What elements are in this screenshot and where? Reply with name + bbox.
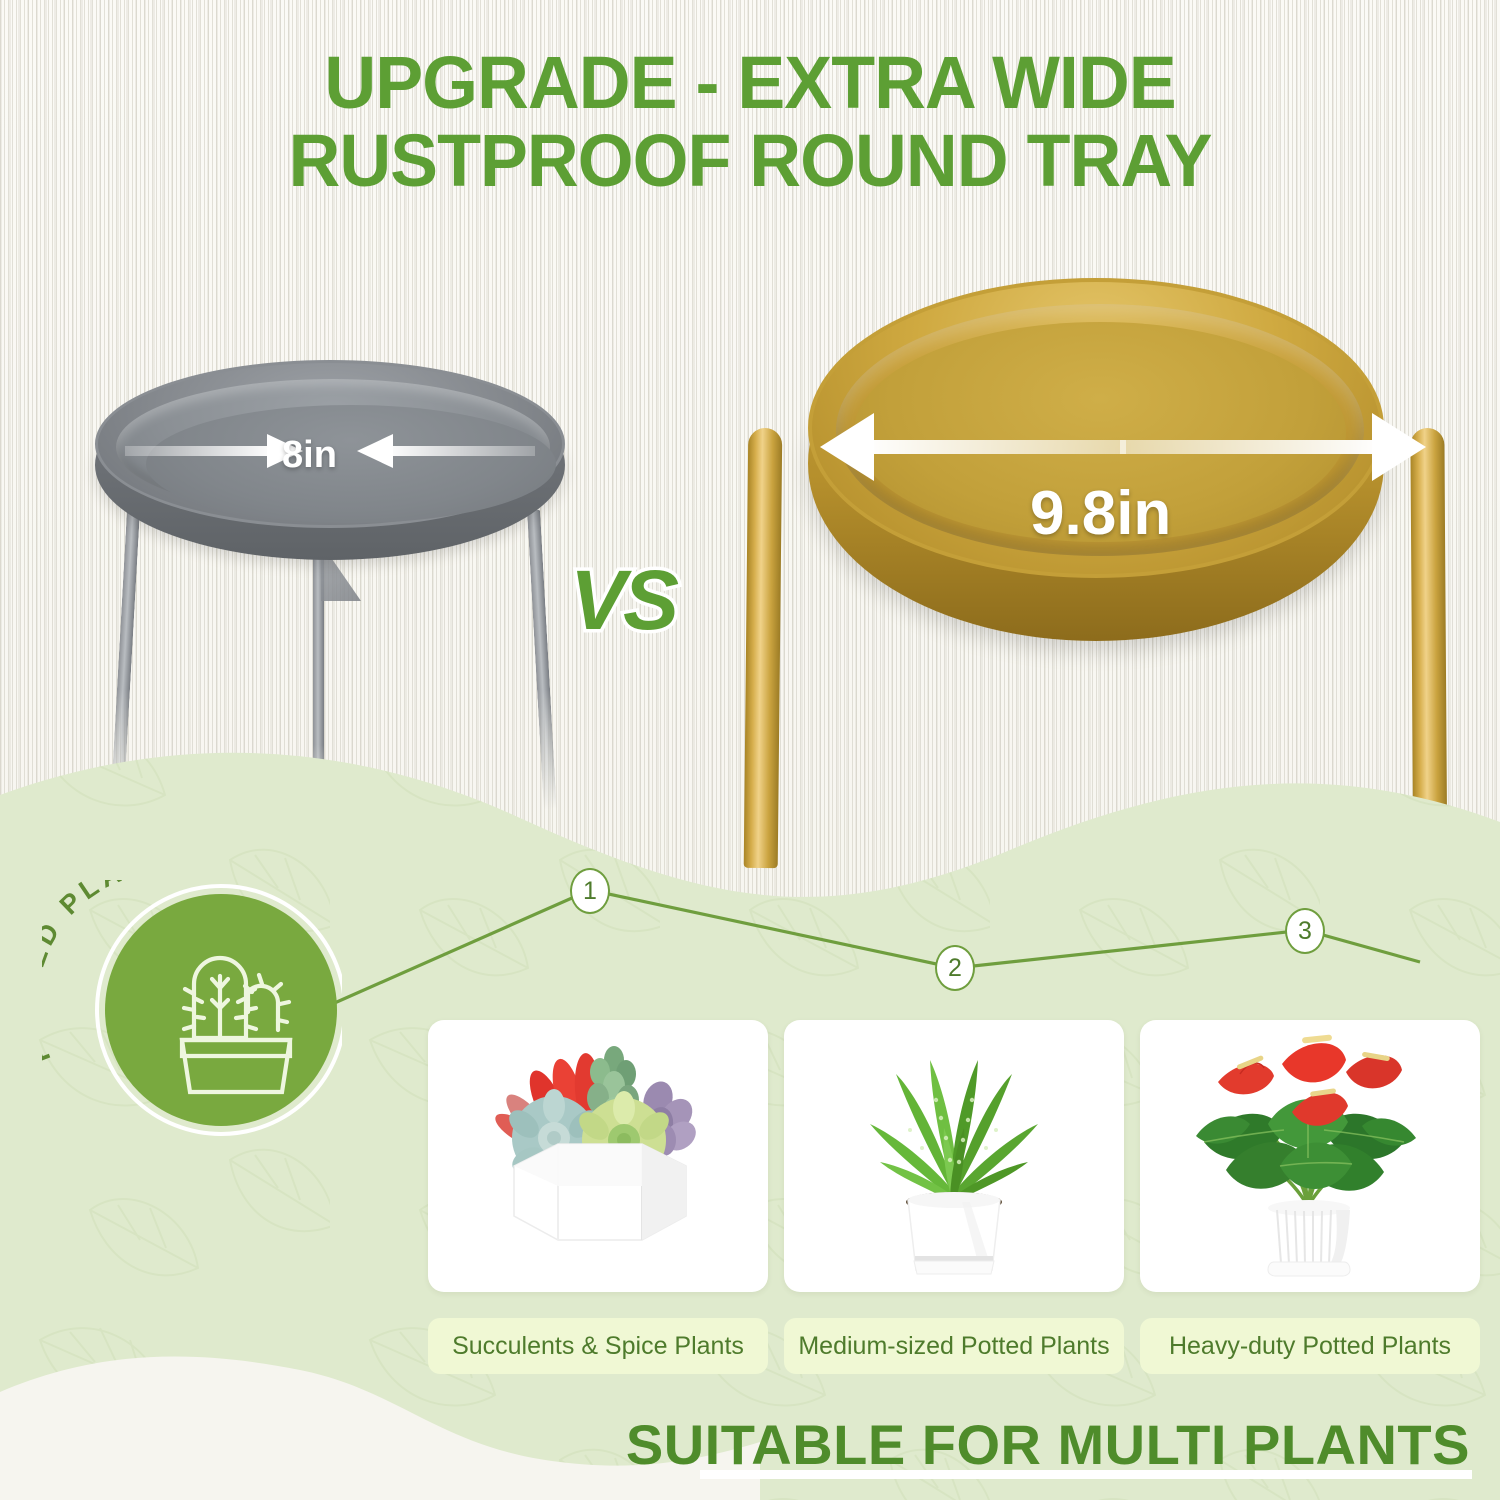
- plant-label-2: Medium-sized Potted Plants: [784, 1318, 1124, 1374]
- plant-label-3: Heavy-duty Potted Plants: [1140, 1318, 1480, 1374]
- plant-card-medium[interactable]: [784, 1020, 1124, 1292]
- connector-node-2[interactable]: 2: [935, 945, 975, 991]
- versus-badge: VS: [570, 552, 676, 649]
- plant-card-succulents[interactable]: [428, 1020, 768, 1292]
- gold-diameter-arrow: [800, 405, 1450, 485]
- gold-diameter-label: 9.8in: [1030, 478, 1171, 549]
- infographic-root: UPGRADE - EXTRA WIDE RUSTPROOF ROUND TRA…: [0, 0, 1500, 1500]
- footer-text: SUITABLE FOR MULTI PLANTS: [0, 1412, 1500, 1477]
- anthurium-image: [1140, 1020, 1480, 1292]
- page-title: UPGRADE - EXTRA WIDE RUSTPROOF ROUND TRA…: [23, 44, 1478, 200]
- plant-label-1: Succulents & Spice Plants: [428, 1318, 768, 1374]
- plant-card-heavy-duty[interactable]: [1140, 1020, 1480, 1292]
- footer-underline: [700, 1470, 1472, 1479]
- connector-node-1[interactable]: 1: [570, 868, 610, 914]
- page-title-line-1: UPGRADE - EXTRA WIDE: [23, 44, 1478, 122]
- aloe-image: [784, 1020, 1124, 1292]
- succulents-image: [428, 1020, 768, 1292]
- badge-graphic: POTTED PLANT: [42, 880, 342, 1138]
- page-title-line-2: RUSTPROOF ROUND TRAY: [23, 122, 1478, 200]
- connector-node-3[interactable]: 3: [1285, 908, 1325, 954]
- potted-plant-badge: POTTED PLANT: [42, 880, 342, 1138]
- silver-diameter-label: 8in: [282, 434, 337, 477]
